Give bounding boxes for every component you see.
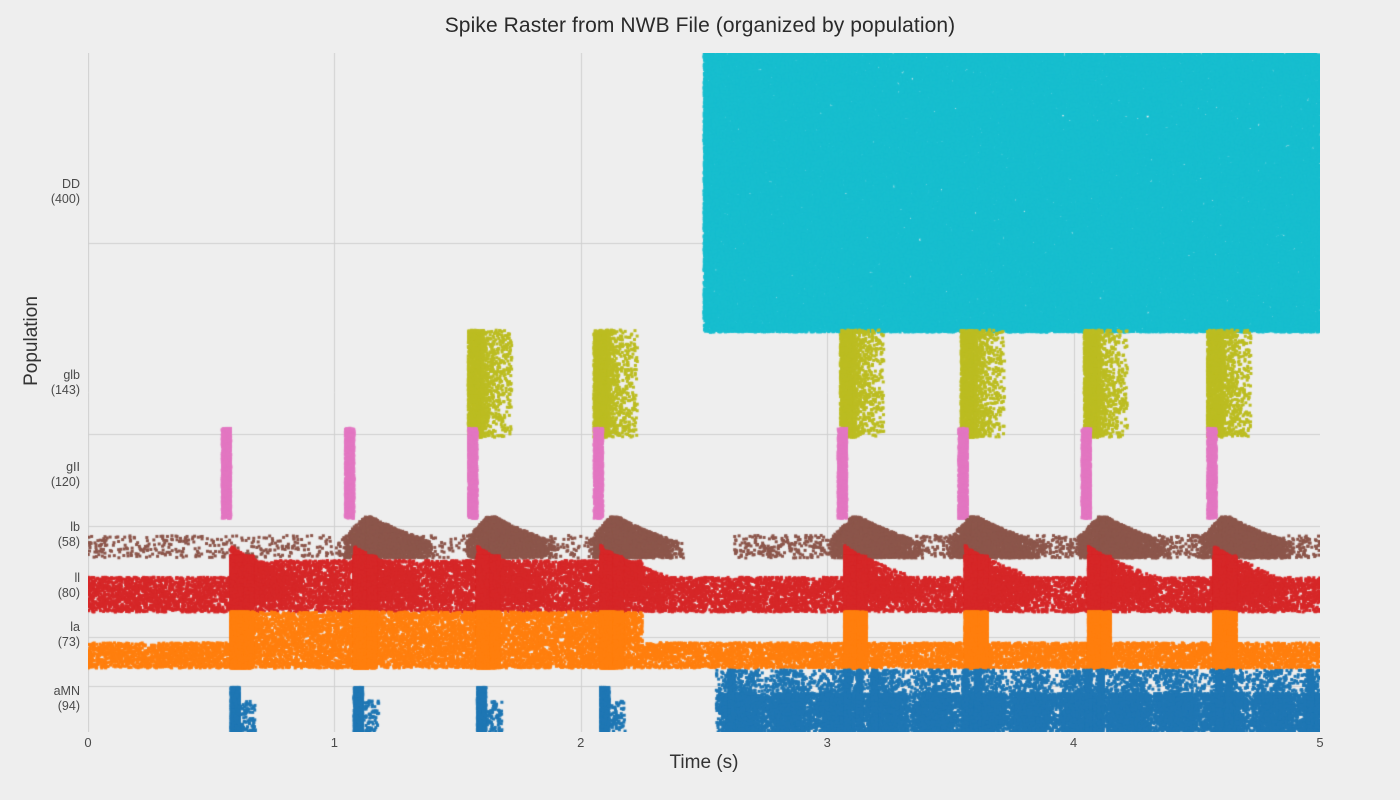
y-tick-population-count: (80) [0, 586, 80, 601]
y-tick-population-name: glb [0, 368, 80, 383]
y-tick-population-count: (58) [0, 535, 80, 550]
y-tick-population-name: DD [0, 177, 80, 192]
page-title: Spike Raster from NWB File (organized by… [0, 14, 1400, 38]
y-axis-tick-lb: lb(58) [0, 520, 80, 550]
x-axis-tick-2: 2 [551, 735, 611, 750]
y-axis-tick-glb: glb(143) [0, 368, 80, 398]
y-tick-population-count: (400) [0, 192, 80, 207]
plot-area [88, 53, 1320, 732]
y-axis-tick-la: la(73) [0, 620, 80, 650]
x-axis-tick-3: 3 [797, 735, 857, 750]
x-axis-tick-1: 1 [304, 735, 364, 750]
y-tick-population-name: ll [0, 571, 80, 586]
spike-raster-scatter [88, 53, 1320, 732]
x-axis-tick-5: 5 [1290, 735, 1350, 750]
y-axis-tick-ll: ll(80) [0, 571, 80, 601]
y-tick-population-name: aMN [0, 684, 80, 699]
y-axis-tick-dd: DD(400) [0, 177, 80, 207]
spike-raster-figure: Spike Raster from NWB File (organized by… [0, 0, 1400, 800]
x-axis-label: Time (s) [88, 752, 1320, 774]
x-axis-tick-0: 0 [58, 735, 118, 750]
y-tick-population-count: (120) [0, 475, 80, 490]
y-tick-population-count: (73) [0, 635, 80, 650]
y-tick-population-name: la [0, 620, 80, 635]
y-tick-population-count: (94) [0, 699, 80, 714]
y-axis-label: Population [21, 251, 43, 431]
y-axis-tick-gii: gII(120) [0, 460, 80, 490]
x-axis-tick-4: 4 [1044, 735, 1104, 750]
y-tick-population-name: lb [0, 520, 80, 535]
y-axis-tick-amn: aMN(94) [0, 684, 80, 714]
y-tick-population-count: (143) [0, 383, 80, 398]
y-tick-population-name: gII [0, 460, 80, 475]
